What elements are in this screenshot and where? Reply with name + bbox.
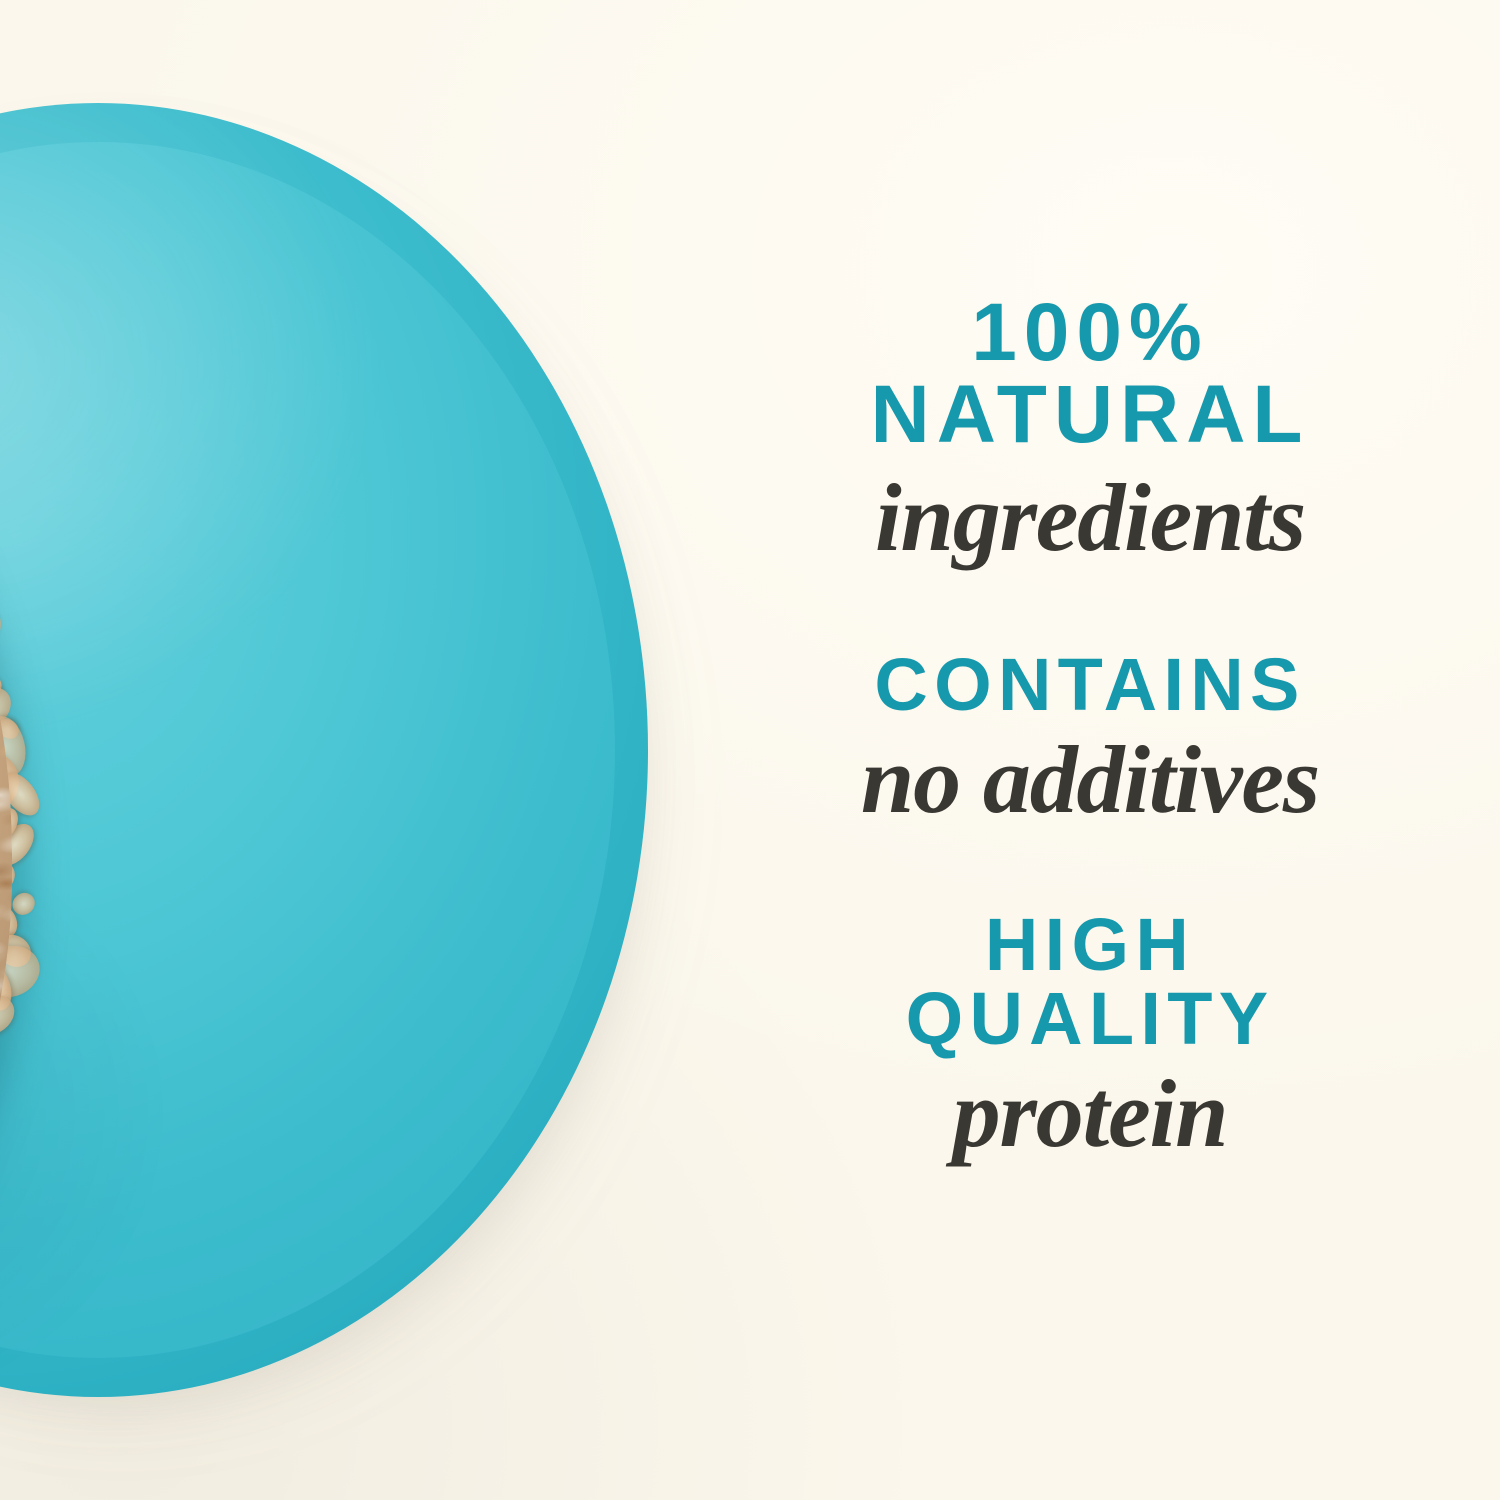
benefit-3-headline-line-1: HIGH [760,908,1420,982]
product-benefits-panel: 100% NATURAL ingredients CONTAINS no add… [0,0,1500,1500]
shredded-tuna-mound [0,343,12,1365]
food-portion [0,343,12,1365]
benefit-3-headline-line-2: QUALITY [760,982,1420,1056]
benefit-no-additives: CONTAINS no additives [760,648,1420,828]
benefit-1-headline-line-1: 100% [760,292,1420,374]
benefit-high-quality-protein: HIGH QUALITY protein [760,908,1420,1162]
benefit-1-script: ingredients [760,470,1420,566]
benefits-copy-column: 100% NATURAL ingredients CONTAINS no add… [760,0,1420,1500]
benefit-1-headline-line-2: NATURAL [760,374,1420,456]
benefit-3-script: protein [760,1066,1420,1162]
benefit-natural-ingredients: 100% NATURAL ingredients [760,292,1420,566]
benefit-2-script: no additives [760,732,1420,828]
teal-plate [0,103,648,1397]
benefit-2-headline-line-1: CONTAINS [760,648,1420,722]
plate-gloss-highlight [0,103,648,1397]
product-photo [0,103,648,1397]
